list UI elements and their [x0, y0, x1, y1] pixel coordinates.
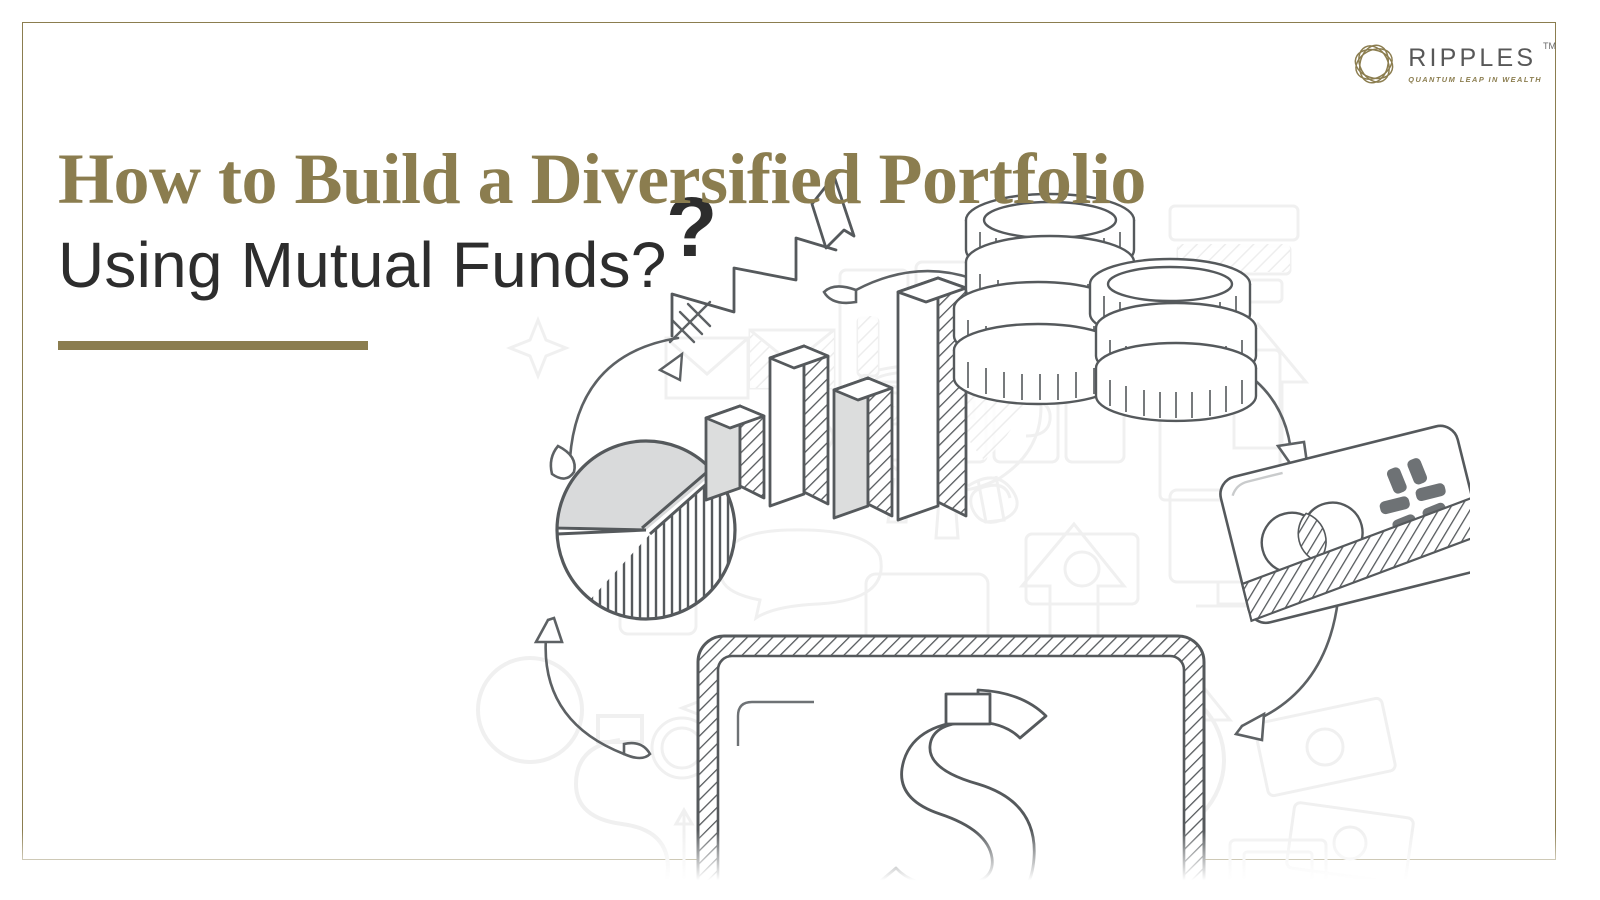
ripples-interlocking-rings-icon: [1348, 38, 1400, 90]
credit-card-icon: [1217, 422, 1470, 627]
title-accent-rule: [58, 341, 368, 350]
trademark-symbol: TM: [1543, 41, 1556, 51]
brand-name: RIPPLES: [1408, 46, 1542, 71]
slide-canvas: ?: [0, 0, 1600, 900]
brand-logo[interactable]: RIPPLES TM QUANTUM LEAP IN WEALTH: [1348, 38, 1542, 90]
headline-block: How to Build a Diversified Portfolio Usi…: [58, 143, 1146, 350]
brand-wordmark: RIPPLES TM QUANTUM LEAP IN WEALTH: [1408, 44, 1542, 84]
page-title-line1: How to Build a Diversified Portfolio: [58, 143, 1146, 215]
laptop-icon: [666, 636, 1236, 900]
brand-tagline: QUANTUM LEAP IN WEALTH: [1408, 75, 1542, 84]
page-title-line2: Using Mutual Funds?: [58, 229, 1146, 303]
